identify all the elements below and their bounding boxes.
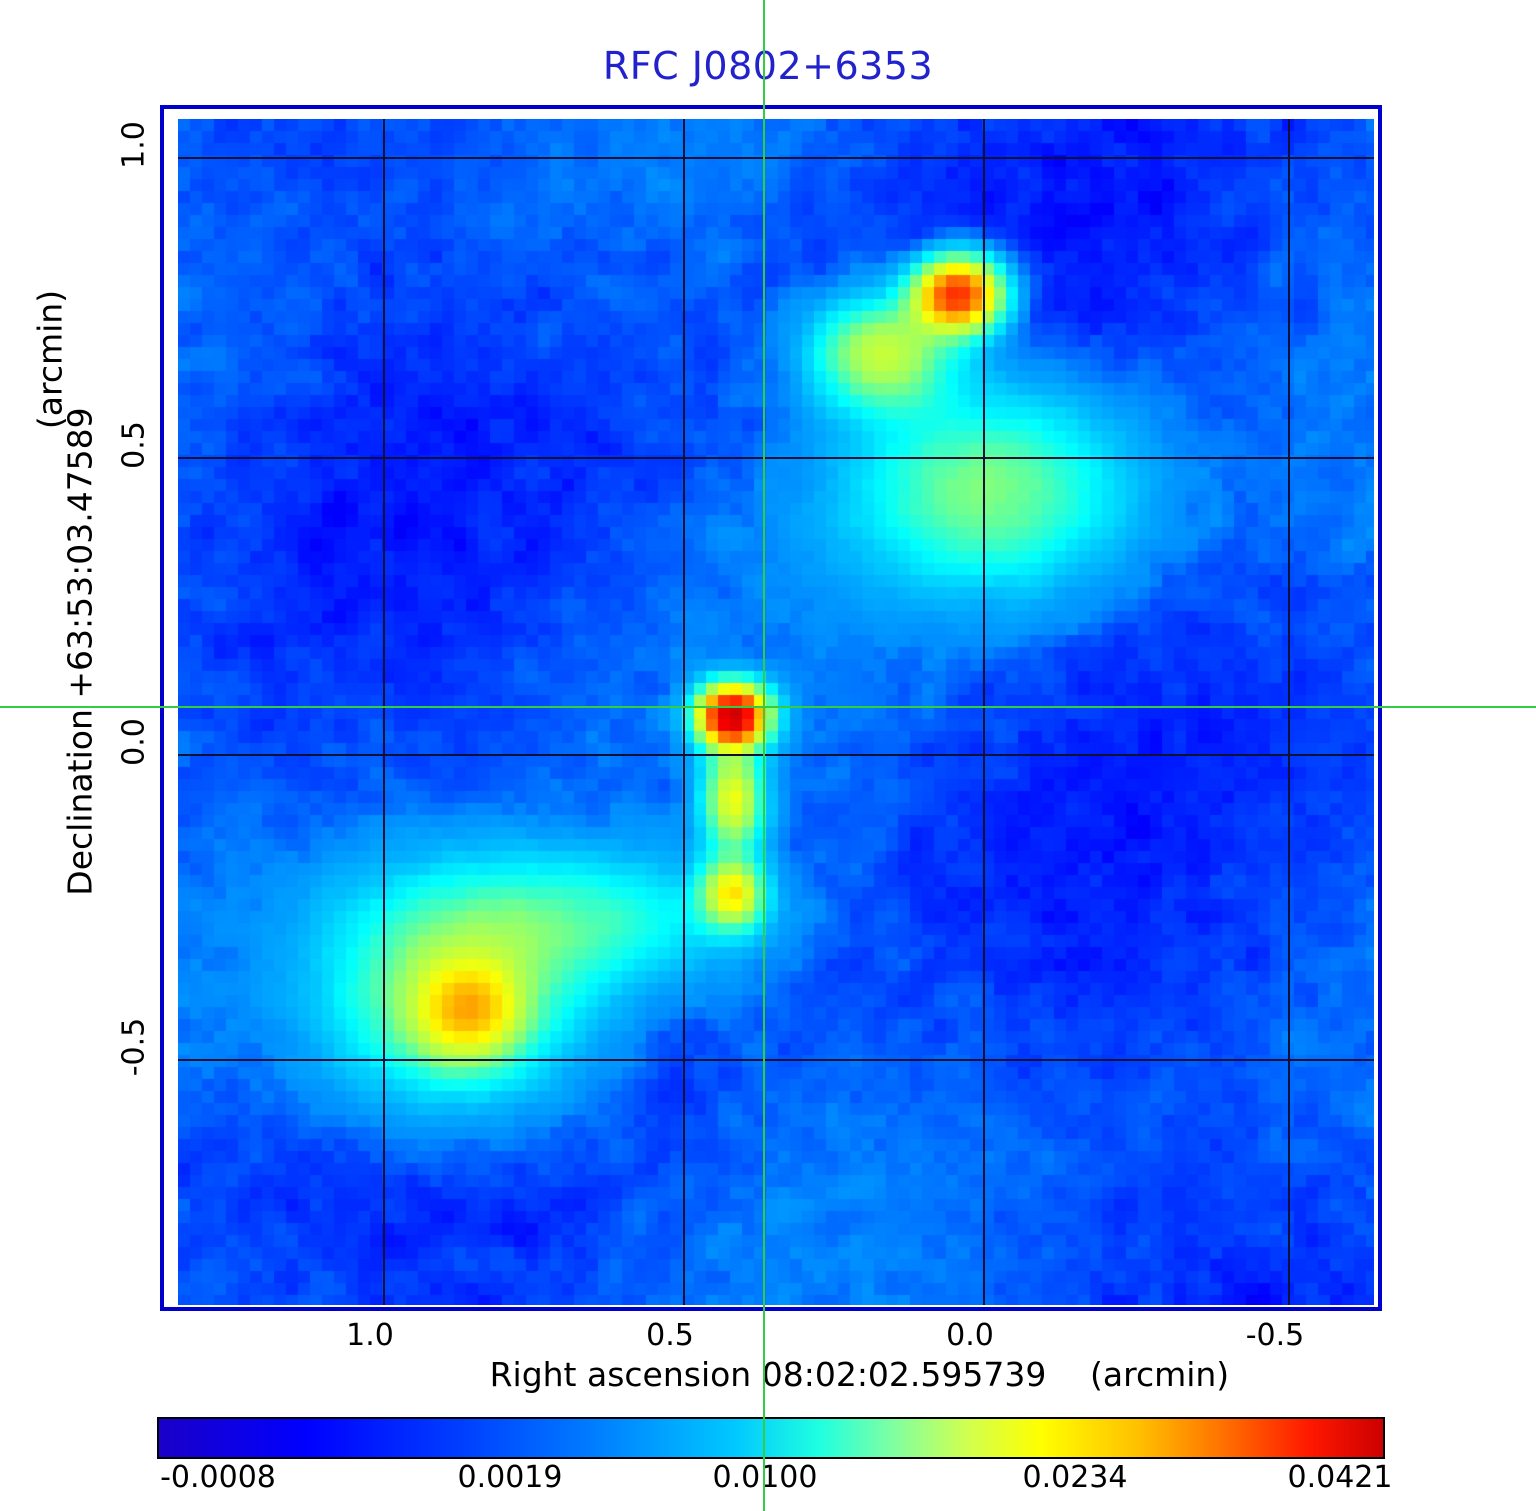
- gridline-vertical: [683, 119, 685, 1305]
- page-title: RFC J0802+6353: [0, 44, 1536, 88]
- y-tick-label: 1.0: [117, 121, 152, 169]
- x-tick-label: 0.0: [946, 1318, 994, 1353]
- sky-map-plot[interactable]: [160, 105, 1382, 1311]
- y-axis-unit-label: (arcmin): [31, 230, 70, 490]
- gridline-horizontal: [178, 1059, 1374, 1061]
- x-tick-label: -0.5: [1246, 1318, 1305, 1353]
- colorbar-tick-label: 0.0234: [1023, 1460, 1128, 1495]
- y-tick-label: -0.5: [117, 1018, 152, 1077]
- x-axis-title: Right ascension 08:02:02.595739: [0, 1355, 1536, 1394]
- gridline-vertical: [1288, 119, 1290, 1305]
- gridline-horizontal: [178, 457, 1374, 459]
- x-tick-label: 1.0: [346, 1318, 394, 1353]
- gridline-horizontal: [178, 754, 1374, 756]
- sky-map-image-area[interactable]: [178, 119, 1374, 1305]
- colorbar-tick-label: 0.0421: [1288, 1460, 1393, 1495]
- crosshair-vertical-line: [763, 0, 765, 1511]
- x-tick-label: 0.5: [646, 1318, 694, 1353]
- colorbar[interactable]: [157, 1417, 1385, 1459]
- y-tick-label: 0.5: [117, 421, 152, 469]
- colorbar-tick-label: 0.0100: [713, 1460, 818, 1495]
- crosshair-horizontal-line: [0, 706, 1536, 708]
- colorbar-gradient[interactable]: [157, 1417, 1385, 1459]
- y-tick-label: 0.0: [117, 718, 152, 766]
- colorbar-tick-label: 0.0019: [458, 1460, 563, 1495]
- colorbar-tick-label: -0.0008: [160, 1460, 276, 1495]
- x-axis-unit-label: (arcmin): [1090, 1355, 1229, 1394]
- gridline-vertical: [383, 119, 385, 1305]
- gridline-horizontal: [178, 157, 1374, 159]
- radio-intensity-heatmap: [178, 119, 1374, 1305]
- gridline-vertical: [983, 119, 985, 1305]
